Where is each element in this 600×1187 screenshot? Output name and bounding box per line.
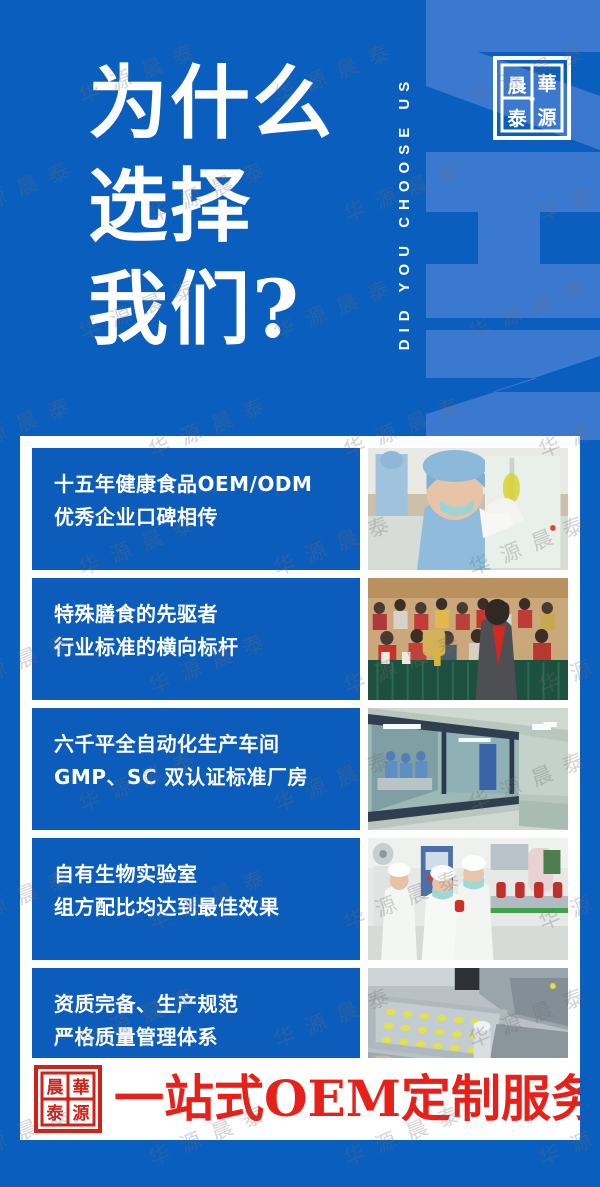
feature-text-card: 自有生物实验室 组方配比均达到最佳效果 (32, 838, 360, 960)
feature-line-1: 十五年健康食品OEM/ODM (54, 468, 360, 501)
feature-row[interactable]: 特殊膳食的先驱者 行业标准的横向标杆 (32, 578, 568, 700)
production-line-workers-photo (368, 838, 568, 960)
svg-text:華: 華 (73, 1078, 90, 1098)
feature-line-2: 行业标准的横向标杆 (54, 631, 360, 664)
conference-audience-photo (368, 578, 568, 700)
title-line-2: 选择 (88, 155, 388, 258)
watermark-text: 华 源 晨 泰 (0, 980, 6, 1055)
vertical-english-text: DID YOU CHOOSE US (397, 74, 414, 349)
title-line-1: 为什么 (88, 52, 388, 155)
feature-line-2: 组方配比均达到最佳效果 (54, 891, 360, 924)
feature-line-1: 特殊膳食的先驱者 (54, 598, 360, 631)
feature-text-card: 十五年健康食品OEM/ODM 优秀企业口碑相传 (32, 448, 360, 570)
feature-line-1: 资质完备、生产规范 (54, 988, 360, 1021)
lab-technician-inspecting-sample-photo (368, 448, 568, 570)
title-line-3: 我们? (88, 258, 388, 361)
feature-line-1: 六千平全自动化生产车间 (54, 728, 360, 761)
poster-header: 为什么 选择 我们? DID YOU CHOOSE US 華 源 晨 泰 (0, 0, 600, 436)
svg-text:晨: 晨 (47, 1078, 65, 1098)
svg-text:源: 源 (73, 1103, 90, 1124)
feature-text-card: 六千平全自动化生产车间 GMP、SC 双认证标准厂房 (32, 708, 360, 830)
feature-text-card: 特殊膳食的先驱者 行业标准的横向标杆 (32, 578, 360, 700)
svg-text:華: 華 (537, 72, 556, 95)
banner-slogan: 一站式OEM定制服务 (114, 1071, 580, 1127)
bottom-banner: 華 源 晨 泰 一站式OEM定制服务 (20, 1058, 580, 1140)
feature-row[interactable]: 十五年健康食品OEM/ODM 优秀企业口碑相传 (32, 448, 568, 570)
features-panel: 十五年健康食品OEM/ODM 优秀企业口碑相传 (20, 436, 580, 1140)
svg-text:泰: 泰 (47, 1103, 65, 1124)
feature-row[interactable]: 六千平全自动化生产车间 GMP、SC 双认证标准厂房 (32, 708, 568, 830)
feature-line-2: GMP、SC 双认证标准厂房 (54, 761, 360, 794)
company-seal-red-icon: 華 源 晨 泰 (32, 1063, 104, 1135)
feature-line-2: 严格质量管理体系 (54, 1021, 360, 1054)
company-seal-white-icon: 華 源 晨 泰 (490, 52, 574, 144)
cleanroom-corridor-photo (368, 708, 568, 830)
watermark-text: 华 源 晨 泰 (0, 508, 6, 583)
svg-text:晨: 晨 (507, 75, 527, 97)
svg-text:泰: 泰 (506, 107, 527, 130)
features-list: 十五年健康食品OEM/ODM 优秀企业口碑相传 (32, 448, 568, 1090)
poster-root: 为什么 选择 我们? DID YOU CHOOSE US 華 源 晨 泰 (0, 0, 600, 1187)
feature-row[interactable]: 自有生物实验室 组方配比均达到最佳效果 (32, 838, 568, 960)
feature-line-2: 优秀企业口碑相传 (54, 501, 360, 534)
svg-text:源: 源 (537, 106, 556, 129)
vertical-english-tagline: DID YOU CHOOSE US (392, 14, 418, 410)
page-title: 为什么 选择 我们? (88, 52, 388, 361)
feature-line-1: 自有生物实验室 (54, 858, 360, 891)
watermark-text: 华 源 晨 泰 (0, 744, 6, 819)
